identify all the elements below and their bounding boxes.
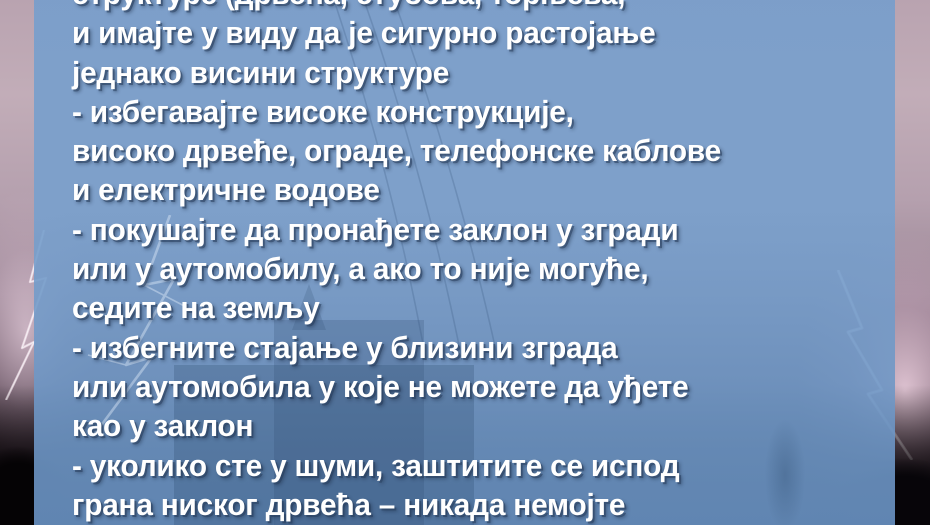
overlay-line: и имајте у виду да је сигурно растојање xyxy=(72,13,859,52)
overlay-line: једнако висини структуре xyxy=(72,53,859,92)
overlay-line: високо дрвеће, ограде, телефонске каблов… xyxy=(72,131,859,170)
overlay-line: - покушајте да пронађете заклон у згради xyxy=(72,210,859,249)
overlay-line: као у заклон xyxy=(72,406,859,445)
overlay-line: - избегавајте високе конструкције, xyxy=(72,92,859,131)
overlay-line: или у аутомобилу, а ако то није могуће, xyxy=(72,249,859,288)
safety-tips-text-block: структуре (дрвећа, стубова, торњева, и и… xyxy=(72,0,892,525)
overlay-line: грана ниског дрвећа – никада немојте xyxy=(72,485,859,524)
overlay-line: - избегните стајање у близини зграда xyxy=(72,328,859,367)
overlay-line: - уколико сте у шуми, заштитите се испод xyxy=(72,446,859,485)
overlay-line: или аутомобила у које не можете да уђете xyxy=(72,367,859,406)
text-overlay-panel: структуре (дрвећа, стубова, торњева, и и… xyxy=(34,0,895,525)
overlay-line: седите на земљу xyxy=(72,288,859,327)
overlay-line: структуре (дрвећа, стубова, торњева, xyxy=(72,0,859,13)
overlay-line: и електричне водове xyxy=(72,170,859,209)
screenshot-root: структуре (дрвећа, стубова, торњева, и и… xyxy=(0,0,930,525)
